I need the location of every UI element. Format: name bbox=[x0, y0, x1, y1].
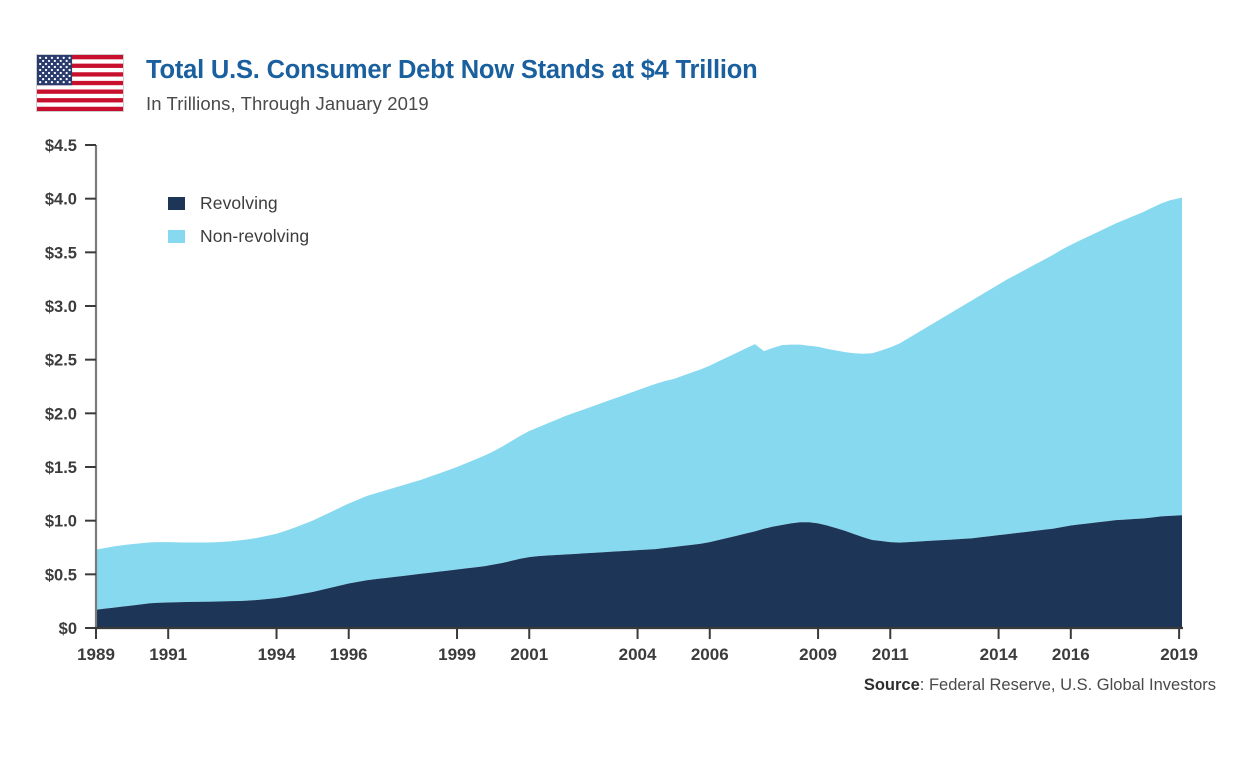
x-tick-label: 1996 bbox=[330, 645, 368, 664]
source-label: Source bbox=[864, 676, 920, 694]
x-tick-label: 1989 bbox=[77, 645, 115, 664]
y-tick-label: $4.0 bbox=[45, 191, 77, 209]
x-tick-label: 2001 bbox=[510, 645, 548, 664]
stacked-area-chart: $0$0.5$1.0$1.5$2.0$2.5$3.0$3.5$4.0$4.519… bbox=[0, 0, 1242, 758]
source-note: Source: Federal Reserve, U.S. Global Inv… bbox=[864, 676, 1216, 695]
y-tick-label: $3.5 bbox=[45, 244, 77, 262]
y-tick-label: $2.5 bbox=[45, 352, 77, 370]
y-tick-label: $1.5 bbox=[45, 459, 77, 477]
y-tick-label: $0 bbox=[59, 620, 77, 638]
x-tick-label: 2011 bbox=[872, 645, 909, 664]
legend-item-non-revolving[interactable]: Non-revolving bbox=[168, 223, 309, 249]
y-tick-label: $1.0 bbox=[45, 513, 77, 531]
legend-label-revolving: Revolving bbox=[200, 193, 278, 214]
legend-item-revolving[interactable]: Revolving bbox=[168, 190, 309, 216]
x-tick-label: 2016 bbox=[1052, 645, 1090, 664]
x-tick-label: 2019 bbox=[1160, 645, 1198, 664]
x-tick-label: 1999 bbox=[438, 645, 476, 664]
x-tick-label: 1994 bbox=[258, 645, 296, 664]
x-tick-label: 2004 bbox=[619, 645, 657, 664]
area-series-layer bbox=[96, 198, 1182, 628]
chart-legend: Revolving Non-revolving bbox=[168, 190, 309, 256]
source-text: Federal Reserve, U.S. Global Investors bbox=[929, 676, 1216, 694]
chart-plot-area: $0$0.5$1.0$1.5$2.0$2.5$3.0$3.5$4.0$4.519… bbox=[0, 0, 1242, 758]
source-separator: : bbox=[920, 676, 929, 694]
x-tick-label: 1991 bbox=[149, 645, 187, 664]
x-tick-label: 2014 bbox=[980, 645, 1018, 664]
y-tick-label: $0.5 bbox=[45, 566, 77, 584]
x-tick-label: 2009 bbox=[799, 645, 837, 664]
y-tick-label: $3.0 bbox=[45, 298, 77, 316]
x-tick-label: 2006 bbox=[691, 645, 729, 664]
legend-label-non-revolving: Non-revolving bbox=[200, 226, 309, 247]
y-tick-label: $2.0 bbox=[45, 405, 77, 423]
legend-swatch-non-revolving bbox=[168, 230, 185, 243]
y-tick-label: $4.5 bbox=[45, 137, 77, 155]
legend-swatch-revolving bbox=[168, 197, 185, 210]
